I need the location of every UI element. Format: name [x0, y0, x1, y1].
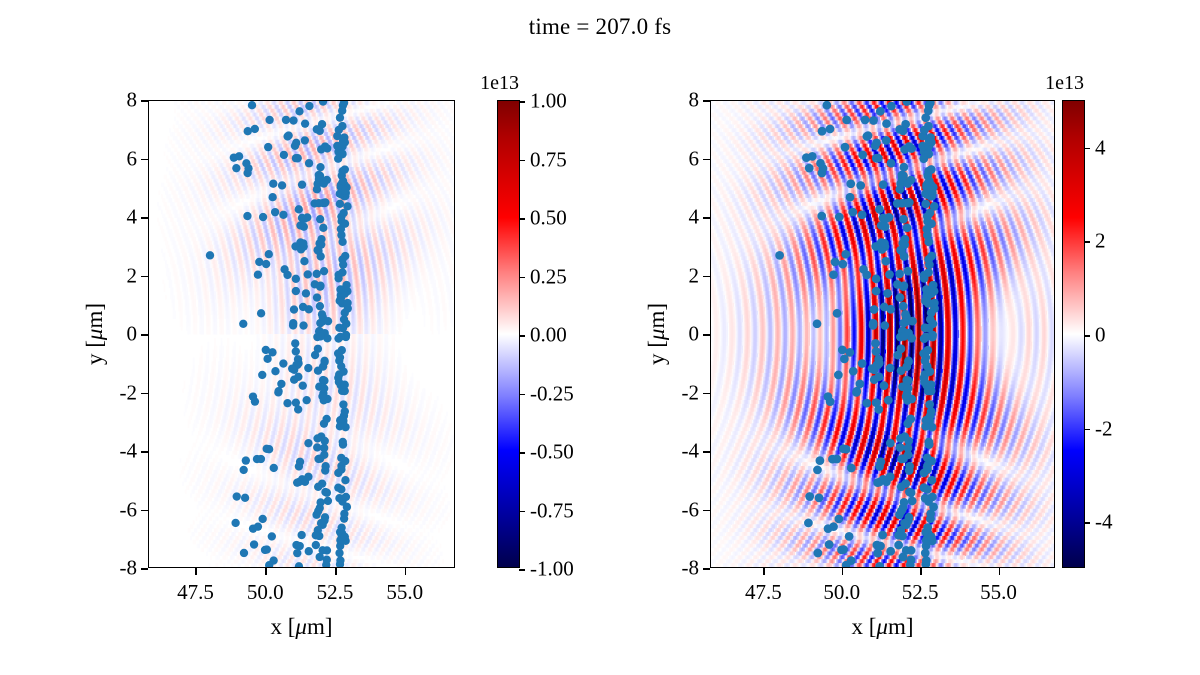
- colorbar-tick: [1084, 241, 1090, 243]
- y-tick: [703, 510, 710, 512]
- colorbar-tick: [1084, 522, 1090, 524]
- y-tick-label: 8: [689, 88, 700, 113]
- colorbar-tick: [1084, 429, 1090, 431]
- y-tick: [703, 568, 710, 570]
- y-tick: [141, 159, 148, 161]
- colorbar-tick: [519, 511, 525, 513]
- colorbar-tick-label: -1.00: [530, 557, 574, 582]
- y-tick-label: 4: [127, 205, 138, 230]
- colorbar-offset-left: 1e13: [480, 72, 519, 95]
- colorbar-tick-label: 0.00: [530, 323, 567, 348]
- colorbar-tick: [519, 569, 525, 571]
- y-tick: [703, 100, 710, 102]
- y-tick: [703, 159, 710, 161]
- y-tick: [141, 276, 148, 278]
- particle-scatter-left: [149, 101, 454, 567]
- x-tick: [265, 568, 267, 575]
- y-tick: [141, 510, 148, 512]
- y-tick-label: 6: [127, 146, 138, 171]
- axes-frame-right: [710, 100, 1055, 568]
- colorbar-tick: [519, 394, 525, 396]
- figure-canvas: time = 207.0 fs 86420-2-4-6-8 47.550.052…: [0, 0, 1200, 675]
- y-tick-label: -2: [120, 380, 138, 405]
- x-tick: [335, 568, 337, 575]
- x-tick-label: 52.5: [902, 580, 939, 605]
- y-tick-label: 0: [127, 322, 138, 347]
- x-tick-label: 47.5: [177, 580, 214, 605]
- x-tick: [195, 568, 197, 575]
- colorbar-tick-label: -2: [1095, 416, 1113, 441]
- colorbar-tick-label: 0.50: [530, 206, 567, 231]
- particle-scatter-right: [711, 101, 1054, 567]
- y-tick-label: 0: [689, 322, 700, 347]
- colorbar-tick-label: 1.00: [530, 89, 567, 114]
- y-tick: [703, 393, 710, 395]
- colorbar-tick: [1084, 335, 1090, 337]
- colorbar-tick: [519, 160, 525, 162]
- colorbar-tick-label: -0.75: [530, 498, 574, 523]
- panel-transverse: 86420-2-4-6-8 47.550.052.555.0 x [μm] y …: [710, 100, 1055, 568]
- x-tick: [842, 568, 844, 575]
- colorbar-tick-label: -0.25: [530, 381, 574, 406]
- y-tick: [703, 276, 710, 278]
- colorbar-tick: [519, 277, 525, 279]
- colorbar-tick: [519, 452, 525, 454]
- x-tick-label: 47.5: [745, 580, 782, 605]
- y-tick-label: -8: [120, 556, 138, 581]
- y-tick-label: -6: [682, 497, 700, 522]
- colorbar-tick: [519, 101, 525, 103]
- y-tick-label: -2: [682, 380, 700, 405]
- colorbar-tick-label: 0: [1095, 323, 1106, 348]
- colorbar-tick-label: 0.75: [530, 147, 567, 172]
- colorbar-offset-right: 1e13: [1045, 72, 1084, 95]
- colorbar-tick-label: -0.50: [530, 440, 574, 465]
- x-tick: [920, 568, 922, 575]
- y-tick: [141, 100, 148, 102]
- colorbar-tick-label: 2: [1095, 229, 1106, 254]
- y-tick-label: 4: [689, 205, 700, 230]
- y-tick-label: -4: [682, 439, 700, 464]
- x-tick-label: 50.0: [823, 580, 860, 605]
- y-tick-label: -4: [120, 439, 138, 464]
- y-axis-label-left: y [μm]: [82, 303, 108, 365]
- y-tick: [141, 217, 148, 219]
- y-tick-label: -6: [120, 497, 138, 522]
- y-tick: [141, 393, 148, 395]
- axes-frame-left: [148, 100, 455, 568]
- y-axis-label-right: y [μm]: [644, 303, 670, 365]
- x-tick: [763, 568, 765, 575]
- y-tick-label: 6: [689, 146, 700, 171]
- colorbar-tick-label: -4: [1095, 510, 1113, 535]
- colorbar-tick: [1084, 148, 1090, 150]
- y-tick: [703, 451, 710, 453]
- panel-longitudinal: 86420-2-4-6-8 47.550.052.555.0 x [μm] y …: [148, 100, 455, 568]
- colorbar-transverse: 1e13 Transverse Electric Field V/m 420-2…: [1062, 100, 1085, 568]
- y-tick-label: 8: [127, 88, 138, 113]
- y-tick: [141, 334, 148, 336]
- x-axis-label-right: x [μm]: [851, 614, 913, 640]
- x-axis-label-left: x [μm]: [270, 614, 332, 640]
- colorbar-tick: [519, 335, 525, 337]
- colorbar-tick-label: 4: [1095, 135, 1106, 160]
- y-tick-label: -8: [682, 556, 700, 581]
- y-tick-label: 2: [127, 263, 138, 288]
- y-tick-label: 2: [689, 263, 700, 288]
- y-tick: [703, 334, 710, 336]
- x-tick-label: 55.0: [980, 580, 1017, 605]
- y-tick: [141, 451, 148, 453]
- x-tick: [405, 568, 407, 575]
- figure-suptitle: time = 207.0 fs: [0, 14, 1200, 40]
- y-tick: [703, 217, 710, 219]
- x-tick-label: 55.0: [386, 580, 423, 605]
- colorbar-tick: [519, 218, 525, 220]
- x-tick-label: 52.5: [317, 580, 354, 605]
- colorbar-longitudinal: 1e13 Longitudinal Electric Field V/m 1.0…: [497, 100, 520, 568]
- x-tick: [999, 568, 1001, 575]
- y-tick: [141, 568, 148, 570]
- x-tick-label: 50.0: [247, 580, 284, 605]
- colorbar-tick-label: 0.25: [530, 264, 567, 289]
